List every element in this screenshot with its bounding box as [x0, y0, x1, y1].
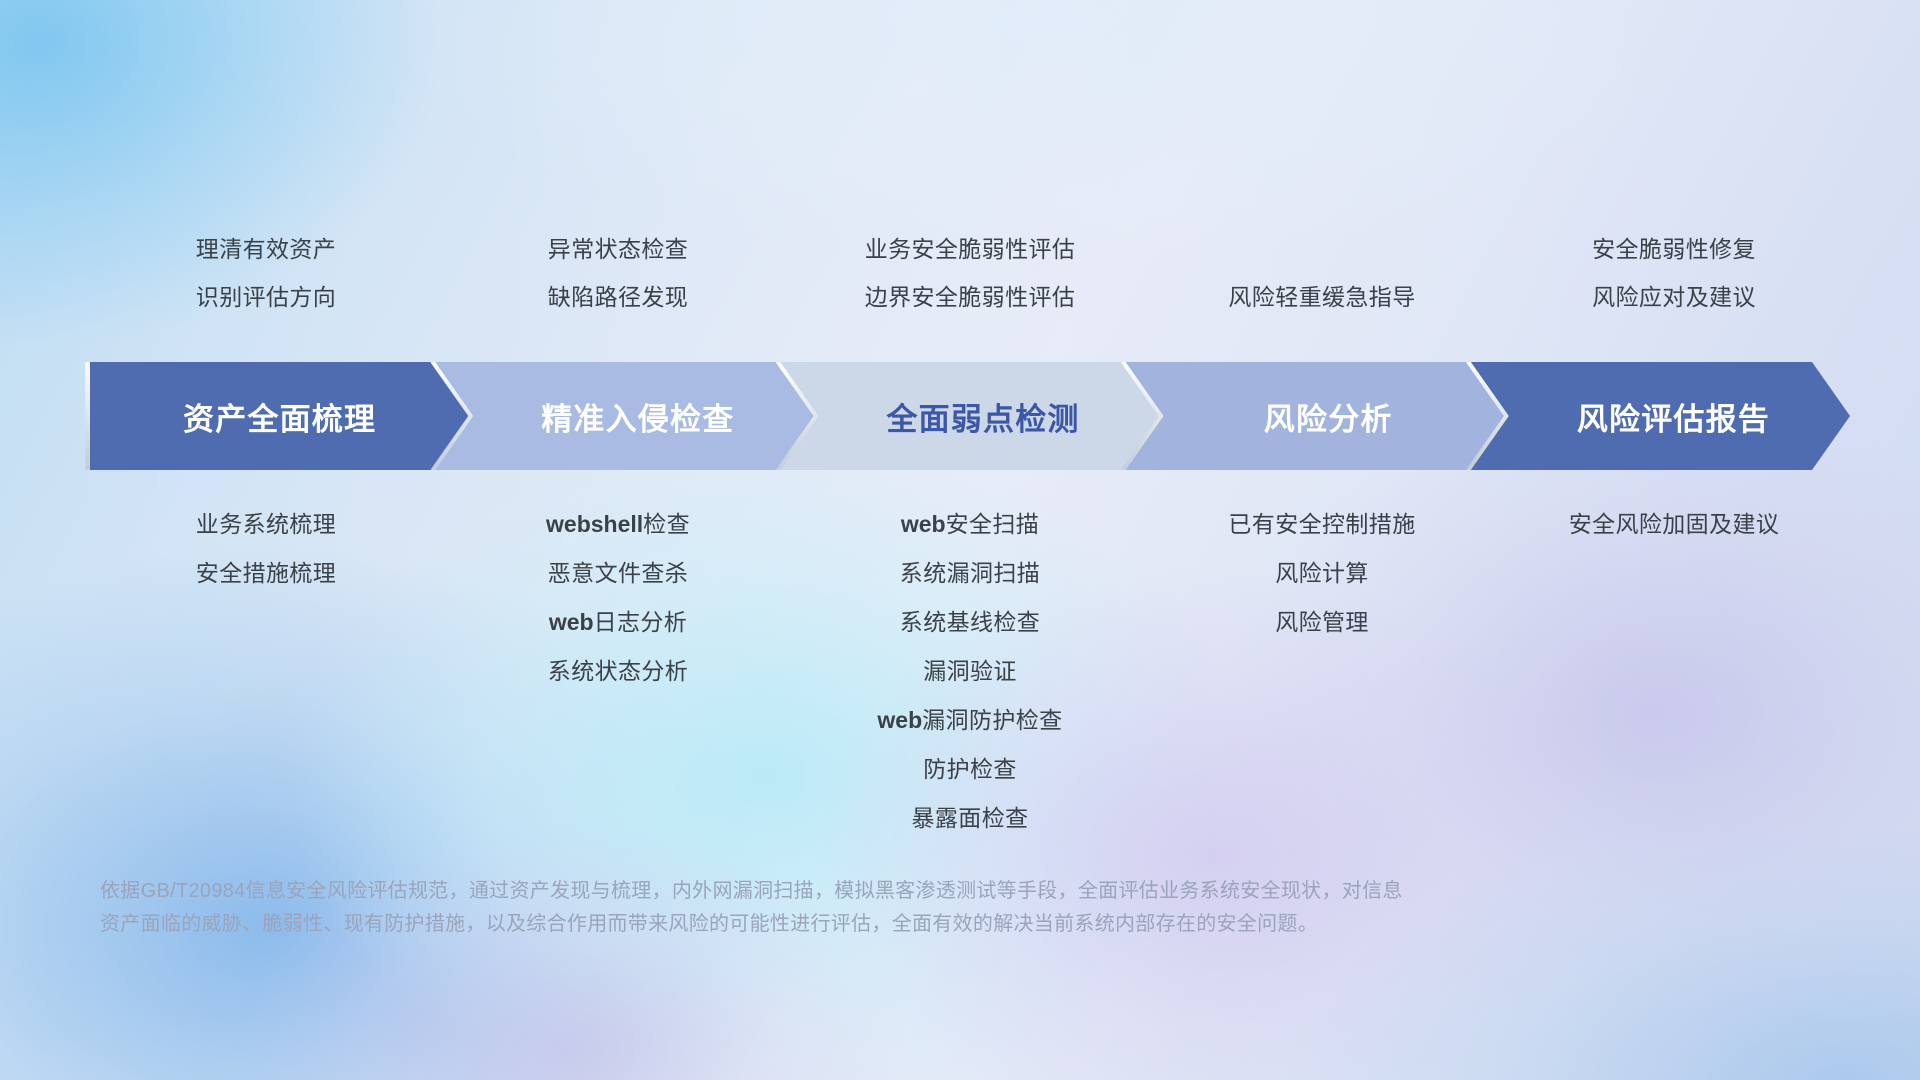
detail-item-text: 已有安全控制措施	[1228, 511, 1415, 537]
top-caption-text: 识别评估方向	[196, 273, 336, 321]
footer-line: 依据GB/T20984信息安全风险评估规范，通过资产发现与梳理，内外网漏洞扫描，…	[100, 875, 1830, 908]
detail-item-latin: web	[901, 511, 946, 537]
process-stage-label: 风险分析	[1126, 362, 1505, 470]
detail-item-text: 漏洞防护检查	[922, 707, 1062, 733]
process-chevron-banner: 资产全面梳理 精准入侵检查 全面弱点检测 风险分析 风险评估报告	[90, 362, 1850, 470]
detail-item-text: 安全风险加固及建议	[1569, 511, 1780, 537]
top-caption-column-5: 安全脆弱性修复 风险应对及建议	[1498, 225, 1850, 335]
top-caption-text: 安全脆弱性修复	[1592, 225, 1756, 273]
infographic-canvas: 理清有效资产 识别评估方向 异常状态检查 缺陷路径发现 业务安全脆弱性评估 边界…	[0, 0, 1920, 1080]
detail-item-text: 风险计算	[1275, 560, 1369, 586]
detail-item: 系统状态分析	[548, 647, 688, 696]
detail-item-text: 安全措施梳理	[196, 560, 336, 586]
top-caption-text: 理清有效资产	[196, 225, 336, 273]
detail-item: 业务系统梳理	[196, 500, 336, 549]
detail-item: 风险管理	[1275, 598, 1369, 647]
process-stage-4[interactable]: 风险分析	[1126, 362, 1505, 470]
footer-description: 依据GB/T20984信息安全风险评估规范，通过资产发现与梳理，内外网漏洞扫描，…	[100, 875, 1830, 941]
detail-column-1: 业务系统梳理安全措施梳理	[90, 500, 442, 840]
process-stage-label: 资产全面梳理	[90, 362, 469, 470]
detail-item: 系统基线检查	[900, 598, 1040, 647]
detail-item: web漏洞防护检查	[877, 696, 1062, 745]
top-caption-column-3: 业务安全脆弱性评估 边界安全脆弱性评估	[794, 225, 1146, 335]
detail-item: 已有安全控制措施	[1228, 500, 1415, 549]
detail-item: web日志分析	[549, 598, 687, 647]
detail-item-latin: webshell	[546, 511, 643, 537]
top-caption-text: 缺陷路径发现	[548, 273, 688, 321]
top-caption-text: 业务安全脆弱性评估	[865, 225, 1076, 273]
detail-item-text: 日志分析	[594, 609, 688, 635]
top-caption-text: 风险轻重缓急指导	[1228, 273, 1415, 321]
process-stage-label: 全面弱点检测	[780, 362, 1159, 470]
detail-item: 暴露面检查	[912, 794, 1029, 843]
detail-column-3: web安全扫描系统漏洞扫描系统基线检查漏洞验证web漏洞防护检查防护检查暴露面检…	[794, 500, 1146, 840]
detail-item: 安全风险加固及建议	[1569, 500, 1780, 549]
top-caption-column-4: 风险轻重缓急指导	[1146, 225, 1498, 335]
detail-item-text: 暴露面检查	[912, 805, 1029, 831]
detail-item: 风险计算	[1275, 549, 1369, 598]
detail-item: 防护检查	[923, 745, 1017, 794]
detail-item: 恶意文件查杀	[548, 549, 688, 598]
detail-item-text: 风险管理	[1275, 609, 1369, 635]
detail-item-text: 漏洞验证	[923, 658, 1017, 684]
process-stage-3[interactable]: 全面弱点检测	[780, 362, 1159, 470]
top-caption-column-2: 异常状态检查 缺陷路径发现	[442, 225, 794, 335]
detail-item: web安全扫描	[901, 500, 1039, 549]
detail-item: webshell检查	[546, 500, 690, 549]
detail-item-text: 系统状态分析	[548, 658, 688, 684]
process-stage-1[interactable]: 资产全面梳理	[90, 362, 469, 470]
detail-column-5: 安全风险加固及建议	[1498, 500, 1850, 840]
detail-item-text: 防护检查	[923, 756, 1017, 782]
process-stage-5[interactable]: 风险评估报告	[1471, 362, 1850, 470]
process-stage-label: 精准入侵检查	[435, 362, 814, 470]
detail-item-latin: web	[549, 609, 594, 635]
top-caption-column-1: 理清有效资产 识别评估方向	[90, 225, 442, 335]
bottom-details-row: 业务系统梳理安全措施梳理 webshell检查恶意文件查杀web日志分析系统状态…	[90, 500, 1850, 840]
detail-item: 系统漏洞扫描	[900, 549, 1040, 598]
process-stage-label: 风险评估报告	[1471, 362, 1850, 470]
detail-column-4: 已有安全控制措施风险计算风险管理	[1146, 500, 1498, 840]
top-caption-text: 异常状态检查	[548, 225, 688, 273]
detail-item-text: 安全扫描	[946, 511, 1040, 537]
detail-item-text: 业务系统梳理	[196, 511, 336, 537]
detail-item: 漏洞验证	[923, 647, 1017, 696]
detail-item-latin: web	[877, 707, 922, 733]
detail-item-text: 系统漏洞扫描	[900, 560, 1040, 586]
top-caption-text: 边界安全脆弱性评估	[865, 273, 1076, 321]
process-stage-2[interactable]: 精准入侵检查	[435, 362, 814, 470]
detail-item-text: 系统基线检查	[900, 609, 1040, 635]
top-caption-text: 风险应对及建议	[1592, 273, 1756, 321]
detail-item-text: 检查	[643, 511, 690, 537]
top-captions-row: 理清有效资产 识别评估方向 异常状态检查 缺陷路径发现 业务安全脆弱性评估 边界…	[90, 225, 1850, 335]
detail-item: 安全措施梳理	[196, 549, 336, 598]
detail-item-text: 恶意文件查杀	[548, 560, 688, 586]
footer-line: 资产面临的威胁、脆弱性、现有防护措施，以及综合作用而带来风险的可能性进行评估，全…	[100, 908, 1830, 941]
detail-column-2: webshell检查恶意文件查杀web日志分析系统状态分析	[442, 500, 794, 840]
